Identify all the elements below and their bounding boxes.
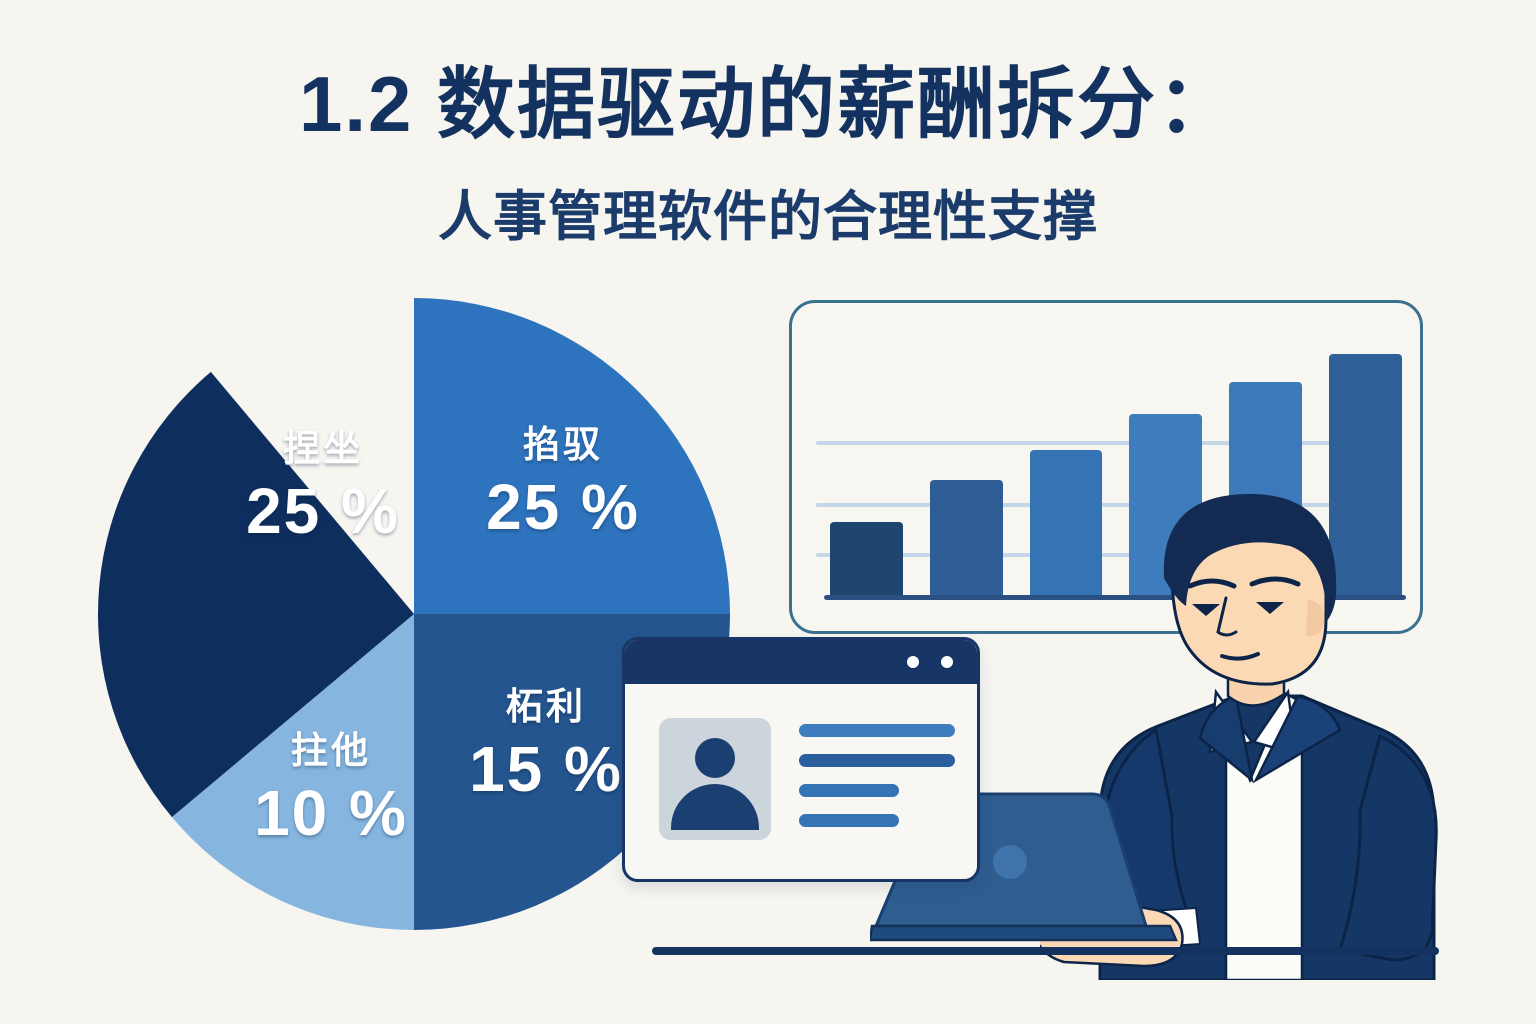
slide-canvas: 1.2 数据驱动的薪酬拆分： 人事管理软件的合理性支撑 捏坐 25 % 掐驭 2… [0, 0, 1536, 1024]
window-body [625, 684, 977, 844]
profile-line-4 [799, 814, 899, 827]
profile-line-1 [799, 724, 955, 737]
bar-1 [830, 522, 903, 595]
profile-text-lines [799, 718, 955, 844]
laptop-logo [993, 845, 1027, 879]
profile-line-3 [799, 784, 899, 797]
avatar [659, 718, 771, 840]
window-dot-icon[interactable] [941, 656, 953, 668]
user-avatar-icon [695, 738, 735, 778]
profile-window-card[interactable] [622, 637, 980, 882]
laptop-base [870, 926, 1176, 940]
bar-2 [930, 480, 1003, 595]
profile-line-2 [799, 754, 955, 767]
page-title: 1.2 数据驱动的薪酬拆分： [0, 62, 1536, 148]
user-avatar-icon-body [671, 784, 759, 830]
window-title-bar [625, 640, 977, 684]
desk-line [652, 947, 1439, 955]
page-subtitle: 人事管理软件的合理性支撑 [0, 188, 1536, 247]
window-dot-icon[interactable] [907, 656, 919, 668]
pie-slice-1 [414, 298, 730, 614]
